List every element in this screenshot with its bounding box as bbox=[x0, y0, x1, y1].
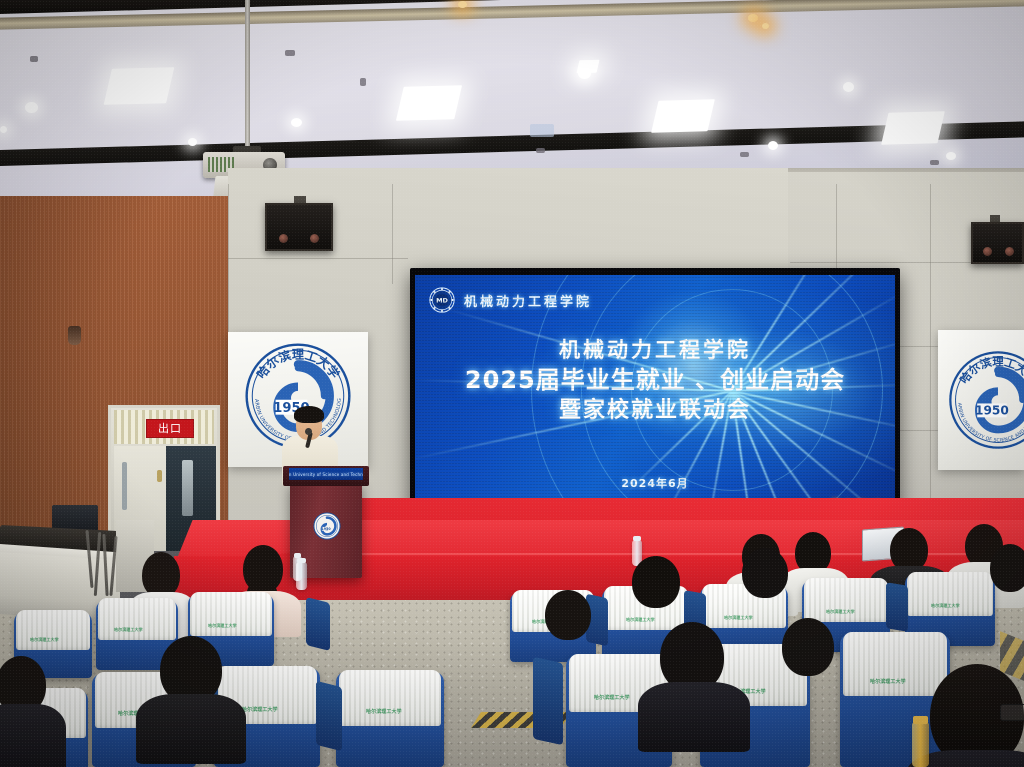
ceiling-downlight bbox=[0, 126, 7, 133]
seat-cover-logo: 哈尔滨理工大学 bbox=[870, 680, 906, 685]
ceiling-downlight bbox=[188, 138, 197, 146]
microphone-capsule-icon bbox=[305, 428, 312, 435]
eyeglasses bbox=[1000, 704, 1024, 721]
seat-cover-logo: 哈尔滨理工大学 bbox=[594, 696, 630, 701]
podium-led-display: Harbin University of Science and Technol… bbox=[289, 468, 363, 480]
wall-seam bbox=[392, 184, 393, 284]
seat-headrest-cover bbox=[339, 670, 441, 726]
university-logo-right: 1950 哈尔滨理工大学 HARBIN UNIVERSITY OF SCIENC… bbox=[946, 348, 1024, 452]
ceiling-sensor bbox=[536, 148, 545, 153]
speaker-person-hair bbox=[294, 406, 324, 423]
water-bottle bbox=[912, 722, 929, 767]
ceiling-warm-light bbox=[762, 23, 769, 29]
slide-date: 2024年6月 bbox=[415, 475, 895, 491]
seat-cover-logo: 哈尔滨理工大学 bbox=[626, 618, 655, 622]
seat-cover-logo: 哈尔滨理工大学 bbox=[826, 610, 855, 614]
seat-headrest-cover bbox=[907, 572, 993, 616]
ceiling-sensor bbox=[740, 152, 749, 157]
wall-seam bbox=[930, 184, 931, 514]
ceiling-fixture bbox=[30, 56, 38, 62]
ceiling-fixture bbox=[360, 78, 366, 86]
podium-university-crest: 1950 bbox=[313, 512, 341, 545]
seat-headrest-cover bbox=[843, 632, 947, 696]
slide-title-line-3: 暨家校就业联动会 bbox=[415, 396, 895, 425]
ceiling-panel-light bbox=[104, 67, 175, 105]
wall-seam bbox=[228, 258, 408, 259]
ceiling-downlight bbox=[291, 118, 302, 127]
seat-headrest-cover bbox=[16, 610, 90, 650]
ceiling-warm-light bbox=[458, 1, 467, 8]
person-head bbox=[990, 544, 1024, 592]
ceiling-downlight bbox=[843, 82, 854, 92]
seat-cover-logo: 哈尔滨理工大学 bbox=[208, 624, 237, 628]
person-head bbox=[632, 556, 680, 608]
speaker-driver-icon bbox=[1005, 247, 1014, 256]
door-push-bar[interactable] bbox=[122, 462, 127, 510]
ceiling-panel-light bbox=[396, 85, 462, 121]
seat-cover-logo: 哈尔滨理工大学 bbox=[242, 708, 278, 713]
exit-sign: 出口 bbox=[146, 419, 194, 438]
seat-cover-logo: 哈尔滨理工大学 bbox=[114, 628, 143, 632]
ceiling-warm-light bbox=[748, 14, 758, 22]
person-head bbox=[742, 548, 788, 598]
slide-title-line-1: 机械动力工程学院 bbox=[415, 337, 895, 365]
person-head bbox=[782, 618, 834, 676]
slide-title-block: 机械动力工程学院 2025届毕业生就业 、创业启动会 暨家校就业联动会 bbox=[415, 337, 895, 425]
door-handle[interactable] bbox=[157, 470, 162, 482]
ceiling-fixture bbox=[285, 50, 295, 56]
slide-header: MD 机械动力工程学院 bbox=[429, 287, 592, 313]
wall-speaker-left bbox=[265, 203, 333, 251]
department-logo-icon: MD bbox=[429, 287, 455, 313]
seat-headrest-cover bbox=[98, 598, 176, 640]
exit-sign-label: 出口 bbox=[158, 423, 182, 434]
svg-text:MD: MD bbox=[436, 297, 448, 305]
speaker-driver-icon bbox=[983, 247, 992, 256]
ceiling-downlight bbox=[578, 68, 591, 79]
ceiling-vent bbox=[530, 124, 554, 137]
bottle-cap bbox=[913, 716, 928, 724]
seat-cover-logo: 哈尔滨理工大学 bbox=[724, 616, 753, 620]
banner-right: 1950 哈尔滨理工大学 HARBIN UNIVERSITY OF SCIENC… bbox=[938, 330, 1024, 470]
auditorium-photo: 出口 1950 哈尔滨理工大学 bbox=[0, 0, 1024, 767]
ceiling-downlight bbox=[768, 141, 778, 150]
seat-cover-logo: 哈尔滨理工大学 bbox=[931, 604, 960, 608]
person-torso bbox=[638, 682, 750, 752]
seat-armrest bbox=[306, 597, 330, 651]
seat-headrest-cover bbox=[804, 578, 888, 622]
ceiling-panel-light bbox=[651, 99, 715, 132]
door-vision-panel bbox=[182, 460, 193, 516]
led-screen-bezel: MD 机械动力工程学院 机械动力工程学院 2025届毕业生就业 、创业启动会 暨… bbox=[410, 268, 900, 522]
person-head bbox=[545, 590, 591, 640]
wall-sconce-light bbox=[68, 326, 81, 345]
person-torso bbox=[136, 694, 246, 764]
projector-mount-pole bbox=[245, 0, 250, 152]
person-torso bbox=[0, 704, 66, 767]
seat-cover-logo: 哈尔滨理工大学 bbox=[366, 710, 402, 715]
speaker-driver-icon bbox=[279, 234, 288, 243]
wall-speaker-right bbox=[971, 222, 1024, 264]
bottle-cap bbox=[297, 558, 306, 563]
svg-text:1950: 1950 bbox=[322, 527, 332, 531]
ceiling-downlight bbox=[25, 102, 38, 113]
ceiling-panel-light bbox=[881, 111, 945, 144]
seat-armrest bbox=[533, 657, 563, 745]
speaker-driver-icon bbox=[310, 234, 319, 243]
svg-text:1950: 1950 bbox=[975, 404, 1009, 418]
slide-department-name: 机械动力工程学院 bbox=[464, 291, 592, 310]
seat-headrest-cover bbox=[190, 592, 272, 636]
seat-cover-logo: 哈尔滨理工大学 bbox=[30, 638, 59, 642]
slide-title-line-2: 2025届毕业生就业 、创业启动会 bbox=[415, 365, 895, 397]
ceiling-sensor bbox=[930, 160, 939, 165]
ceiling-downlight bbox=[946, 152, 956, 160]
water-bottle bbox=[296, 562, 307, 590]
seat-armrest bbox=[886, 582, 908, 631]
podium-led-text: Harbin University of Science and Technol… bbox=[289, 472, 363, 477]
bottle-cap bbox=[633, 536, 641, 541]
led-screen[interactable]: MD 机械动力工程学院 机械动力工程学院 2025届毕业生就业 、创业启动会 暨… bbox=[415, 275, 895, 515]
seat-armrest bbox=[316, 681, 342, 751]
